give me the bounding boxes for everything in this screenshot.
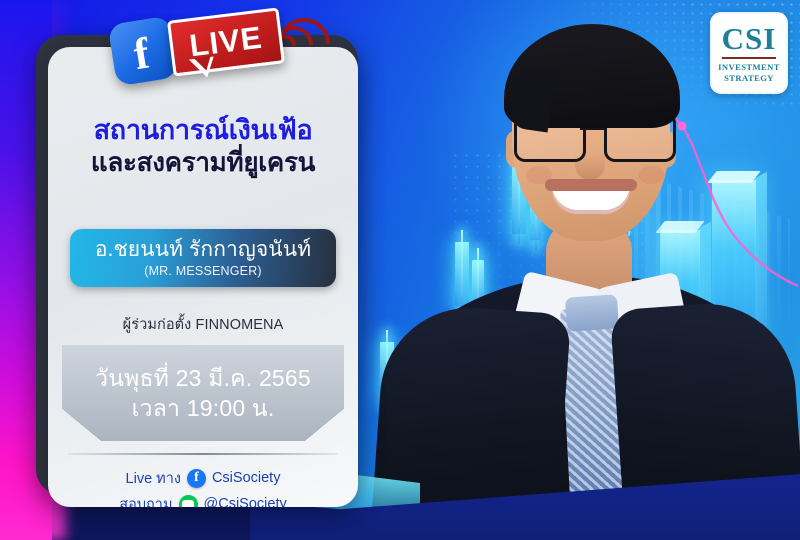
- speaker-affiliation: ผู้ร่วมก่อตั้ง FINNOMENA: [48, 313, 358, 336]
- contact-row-line[interactable]: สอบถาม @CsiSociety: [48, 491, 358, 507]
- line-handle[interactable]: @CsiSociety: [204, 496, 287, 507]
- facebook-icon: f: [187, 469, 206, 488]
- facebook-live-badge: f LIVE: [112, 6, 322, 92]
- headline-line-1: สถานการณ์เงินเฟ้อ: [94, 115, 313, 145]
- footer-divider: [68, 453, 338, 455]
- contact-section: Live ทาง f CsiSociety สอบถาม @CsiSociety: [48, 465, 358, 507]
- portrait-hair: [504, 24, 680, 128]
- csi-logo-tagline-2: STRATEGY: [724, 73, 774, 84]
- speaker-name-badge: อ.ชยนนท์ รักกาญจนันท์ (MR. MESSENGER): [70, 229, 336, 287]
- live-bubble-tail: [189, 57, 216, 80]
- csi-logo-wordmark: CSI: [722, 23, 777, 54]
- csi-logo-rule: [722, 57, 776, 59]
- portrait-cheek-right: [638, 166, 664, 184]
- csi-logo-tagline-1: INVESTMENT: [718, 62, 780, 73]
- speaker-name-thai: อ.ชยนนท์ รักกาญจนันท์: [95, 239, 311, 260]
- schedule-badge: วันพุธที่ 23 มี.ค. 2565 เวลา 19:00 น.: [62, 345, 344, 441]
- headline: สถานการณ์เงินเฟ้อ และสงครามที่ยูเครน: [48, 115, 358, 178]
- schedule-time: เวลา 19:00 น.: [132, 393, 275, 423]
- contact-label-facebook: Live ทาง: [126, 467, 181, 490]
- contact-row-facebook[interactable]: Live ทาง f CsiSociety: [48, 465, 358, 491]
- live-label-bubble: LIVE: [167, 7, 285, 76]
- schedule-date: วันพุธที่ 23 มี.ค. 2565: [95, 363, 311, 393]
- portrait-smile: [552, 184, 630, 214]
- live-promo-poster: สถานการณ์เงินเฟ้อ และสงครามที่ยูเครน อ.ช…: [0, 0, 800, 540]
- facebook-glyph: f: [131, 31, 152, 77]
- facebook-handle[interactable]: CsiSociety: [212, 470, 281, 486]
- csi-logo: CSI INVESTMENT STRATEGY: [710, 12, 788, 94]
- line-icon: [179, 495, 198, 508]
- content-card: สถานการณ์เงินเฟ้อ และสงครามที่ยูเครน อ.ช…: [48, 47, 358, 507]
- contact-label-line: สอบถาม: [119, 493, 172, 508]
- headline-line-2: และสงครามที่ยูเครน: [48, 147, 358, 178]
- speaker-name-english: (MR. MESSENGER): [144, 265, 262, 278]
- portrait-necktie-knot: [565, 294, 619, 332]
